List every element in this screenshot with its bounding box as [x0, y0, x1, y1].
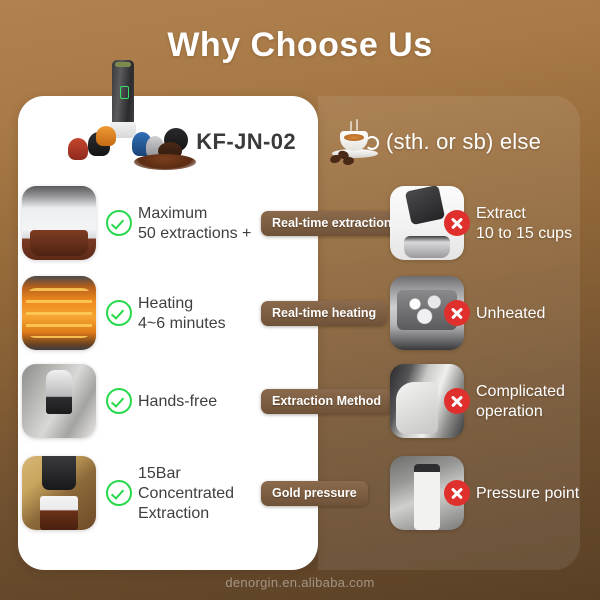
check-icon: [106, 388, 132, 414]
pro-line-3: Extraction: [138, 505, 209, 522]
con-line-1: Complicated: [476, 383, 565, 400]
check-icon: [106, 210, 132, 236]
pro-line-1: 15Bar: [138, 465, 181, 482]
check-icon: [106, 480, 132, 506]
cross-icon: [444, 388, 470, 414]
pressure-brewing-thumb: [22, 456, 96, 530]
feature-badge: Extraction Method: [261, 389, 392, 414]
con-line-1: Unheated: [476, 304, 545, 324]
machine-display: [120, 86, 129, 99]
con-text: Pressure point: [476, 452, 596, 536]
pro-line-1: Heating: [138, 295, 193, 312]
con-line-2: operation: [476, 403, 543, 420]
bean: [342, 156, 354, 165]
competitor-label: (sth. or sb) else: [386, 129, 541, 155]
pro-line-2: 50 extractions +: [138, 225, 251, 242]
product-header: KF-JN-02: [18, 112, 318, 172]
feature-badge: Real-time heating: [261, 301, 387, 326]
con-text: Extract 10 to 15 cups: [476, 182, 596, 266]
extraction-chamber-thumb: [22, 186, 96, 260]
coffee-beans: [330, 151, 354, 164]
comparison-row: Maximum 50 extractions + Real-time extra…: [0, 182, 600, 266]
cross-icon: [444, 300, 470, 326]
con-text: Complicated operation: [476, 360, 596, 444]
comparison-row: Hands-free Extraction Method Complicated…: [0, 360, 600, 444]
check-icon: [106, 300, 132, 326]
comparison-row: Heating 4~6 minutes Real-time heating Un…: [0, 272, 600, 356]
cup: [340, 131, 368, 151]
infographic-canvas: Why Choose Us KF-JN-02: [0, 0, 600, 600]
pro-text: Maximum 50 extractions +: [138, 182, 263, 266]
pro-text: 15Bar Concentrated Extraction: [138, 452, 263, 536]
watermark: denorgin.en.alibaba.com: [0, 575, 600, 590]
product-model-label: KF-JN-02: [196, 129, 296, 155]
con-line-1: Extract: [476, 205, 526, 222]
feature-badge: Gold pressure: [261, 481, 368, 506]
heating-coil-thumb: [22, 276, 96, 350]
feature-badge: Real-time extraction: [261, 211, 402, 236]
pro-text: Hands-free: [138, 360, 263, 444]
hands-free-machine-thumb: [22, 364, 96, 438]
pro-line-2: 4~6 minutes: [138, 315, 226, 332]
competitor-header: (sth. or sb) else: [330, 112, 590, 172]
pro-line-1: Maximum: [138, 205, 207, 222]
con-text: Unheated: [476, 272, 596, 356]
comparison-row: 15Bar Concentrated Extraction Gold press…: [0, 452, 600, 536]
steam-wisp: [356, 119, 358, 131]
steam-wisp: [350, 121, 352, 131]
pro-line-2: Concentrated: [138, 485, 234, 502]
con-line-1: Pressure point: [476, 484, 579, 504]
con-line-2: 10 to 15 cups: [476, 225, 572, 242]
cup-handle: [365, 136, 379, 150]
coffee-cup-icon: [330, 119, 382, 165]
pro-line-1: Hands-free: [138, 392, 217, 412]
cross-icon: [444, 210, 470, 236]
cross-icon: [444, 480, 470, 506]
pro-text: Heating 4~6 minutes: [138, 272, 263, 356]
